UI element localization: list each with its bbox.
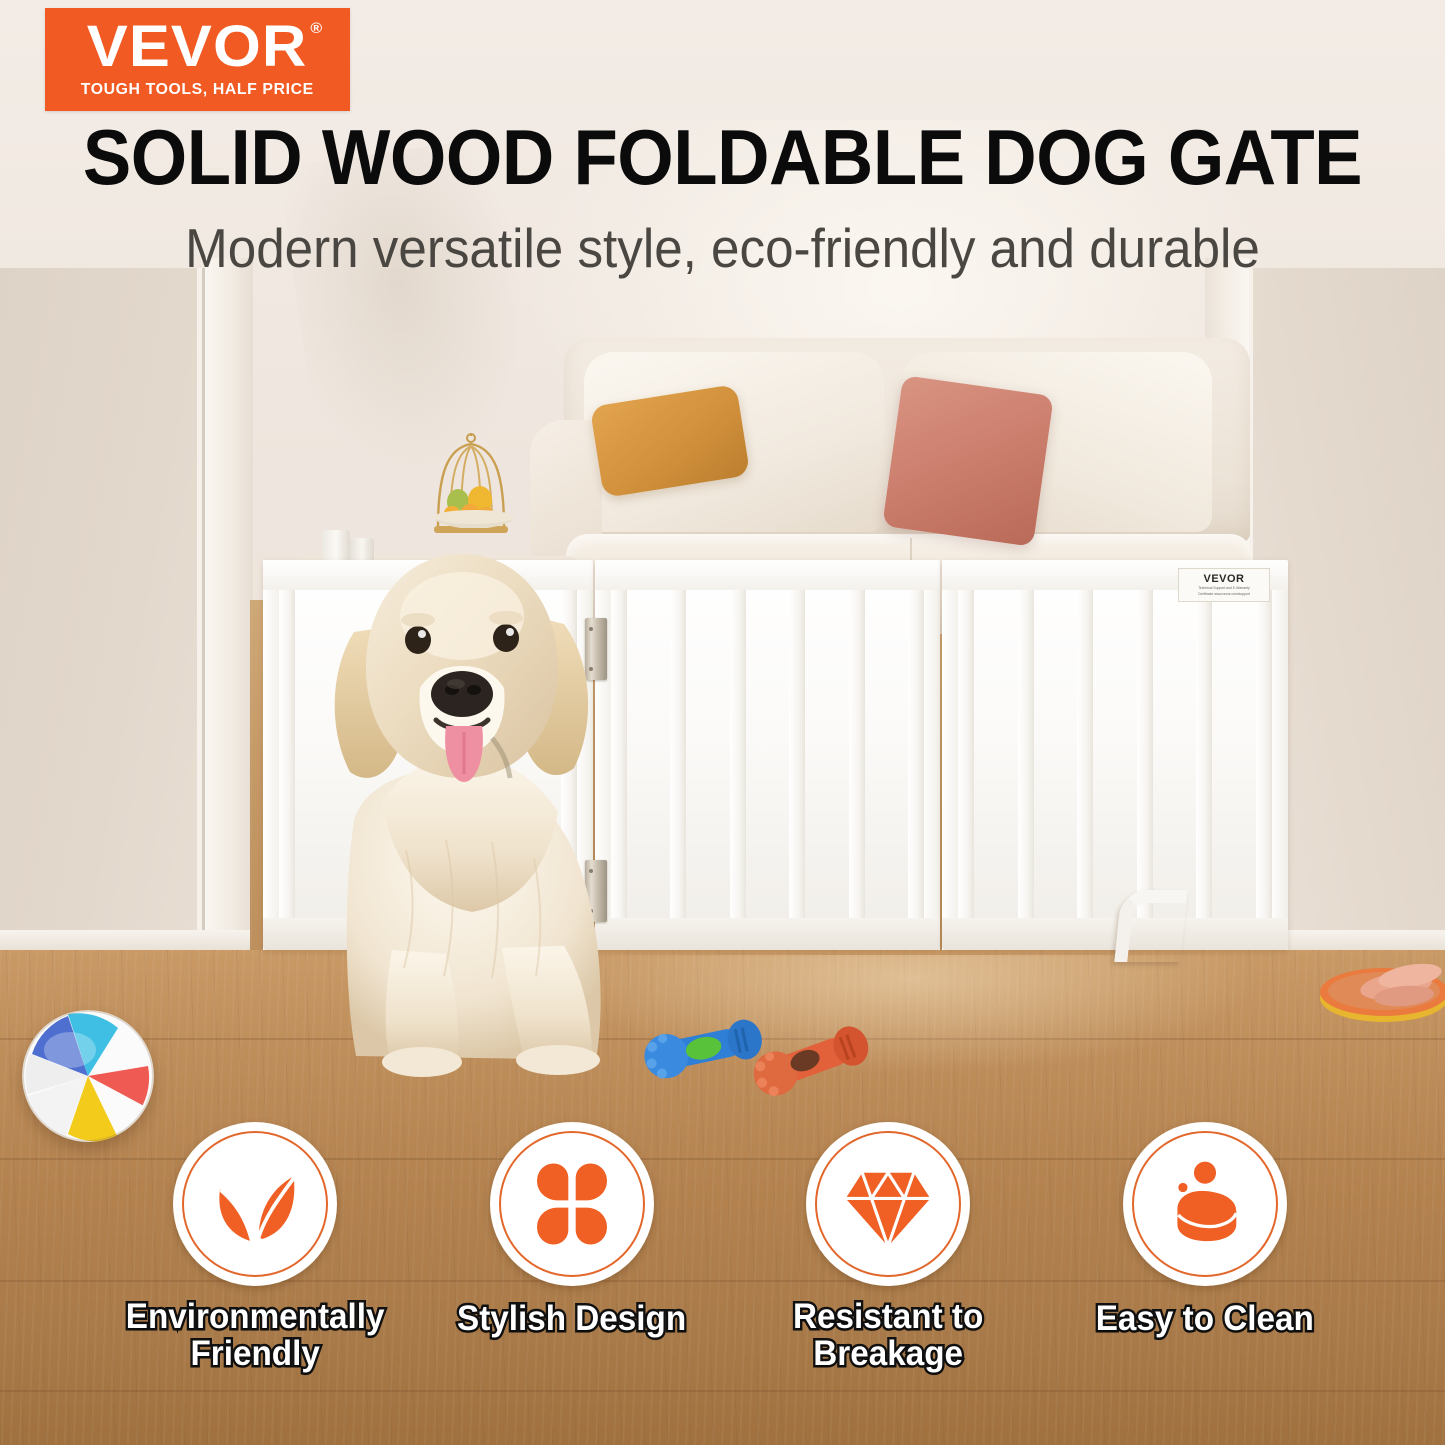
gate-slat xyxy=(279,588,295,920)
gate-slat xyxy=(1137,588,1153,920)
dog-toy-orange xyxy=(748,1022,878,1107)
feature-label-4-line1: Easy to Clean xyxy=(1096,1299,1314,1338)
gate-panel-right[interactable]: VEVOR Technical Support and E-Warranty C… xyxy=(942,560,1288,950)
product-marketing-image: VEVOR Technical Support and E-Warranty C… xyxy=(0,0,1445,1445)
gate-slat xyxy=(1256,588,1272,920)
feature-stylish-design[interactable]: Stylish Design xyxy=(437,1122,707,1337)
wall-trim-left xyxy=(205,258,253,968)
gate-slat xyxy=(908,588,924,920)
feature-circle-3 xyxy=(806,1122,970,1286)
gate-panel-center-slats xyxy=(611,588,924,920)
gate-slat-gap xyxy=(1153,588,1197,920)
gate-slat-gap xyxy=(1212,588,1256,920)
sticker-line-1: Technical Support and E-Warranty xyxy=(1198,587,1250,590)
pillow-rose xyxy=(882,375,1054,547)
feature-environmentally-friendly[interactable]: Environmentally Friendly xyxy=(120,1122,390,1372)
vevor-wordmark: VEVOR ® xyxy=(87,20,308,73)
gate-bottom-rail xyxy=(595,918,940,950)
page-title: SOLID WOOD FOLDABLE DOG GATE xyxy=(51,118,1395,196)
gate-panel-center-rail-right xyxy=(922,560,940,950)
feature-circle-4 xyxy=(1123,1122,1287,1286)
feature-circle-2 xyxy=(490,1122,654,1286)
gate-slat xyxy=(1018,588,1034,920)
feature-label-3-line2: Breakage xyxy=(813,1334,963,1373)
feature-label-3-line1: Resistant to xyxy=(793,1297,983,1336)
gate-top-rail xyxy=(595,560,940,590)
gate-slat xyxy=(730,588,746,920)
feature-label-1-line2: Friendly xyxy=(190,1334,319,1373)
flower-icon xyxy=(526,1158,618,1250)
gate-panel-right-rail-right xyxy=(1270,560,1288,950)
vevor-brand-text: VEVOR xyxy=(87,14,308,79)
feature-label-1-line1: Environmentally xyxy=(126,1297,385,1336)
feature-label-1: Environmentally Friendly xyxy=(126,1298,385,1372)
gate-slat xyxy=(849,588,865,920)
gate-slat xyxy=(1196,588,1212,920)
leaf-icon xyxy=(209,1158,301,1250)
gate-slat xyxy=(1077,588,1093,920)
feature-easy-to-clean[interactable]: Easy to Clean xyxy=(1070,1122,1340,1337)
gate-support-foot xyxy=(1114,890,1188,962)
sticker-line-2: Certificate www.vevor.com/support xyxy=(1198,593,1250,596)
gate-slat-gap xyxy=(805,588,848,920)
gate-panel-center[interactable] xyxy=(595,560,940,950)
food-tray xyxy=(1318,962,1445,1030)
gate-slat-gap xyxy=(686,588,729,920)
feature-label-2: Stylish Design xyxy=(457,1300,686,1337)
golden-retriever-dog xyxy=(296,520,636,1080)
gate-slat xyxy=(958,588,974,920)
gate-slat xyxy=(670,588,686,920)
wall-panel-left xyxy=(0,268,205,963)
page-subtitle: Modern versatile style, eco-friendly and… xyxy=(51,216,1395,280)
gate-slat xyxy=(789,588,805,920)
feature-label-2-line1: Stylish Design xyxy=(457,1299,686,1338)
gate-panel-right-slats xyxy=(958,588,1272,920)
product-vevor-sticker: VEVOR Technical Support and E-Warranty C… xyxy=(1178,568,1270,602)
gate-slat-gap xyxy=(1093,588,1137,920)
diamond-icon xyxy=(842,1158,934,1250)
feature-label-3: Resistant to Breakage xyxy=(793,1298,983,1372)
feature-resistant-to-breakage[interactable]: Resistant to Breakage xyxy=(753,1122,1023,1372)
feature-label-4: Easy to Clean xyxy=(1096,1300,1314,1337)
gate-slat-gap xyxy=(974,588,1018,920)
sponge-icon xyxy=(1159,1158,1251,1250)
gate-slat-gap xyxy=(1034,588,1078,920)
registered-mark: ® xyxy=(311,22,324,36)
gate-slat-gap xyxy=(746,588,789,920)
vevor-tagline: TOUGH TOOLS, HALF PRICE xyxy=(81,81,314,99)
vevor-logo-badge: VEVOR ® TOUGH TOOLS, HALF PRICE xyxy=(45,8,350,111)
feature-badge-row: Environmentally Friendly Stylish Design xyxy=(120,1122,1340,1422)
sticker-brand: VEVOR xyxy=(1203,574,1244,585)
feature-circle-1 xyxy=(173,1122,337,1286)
gate-slat-gap xyxy=(865,588,908,920)
